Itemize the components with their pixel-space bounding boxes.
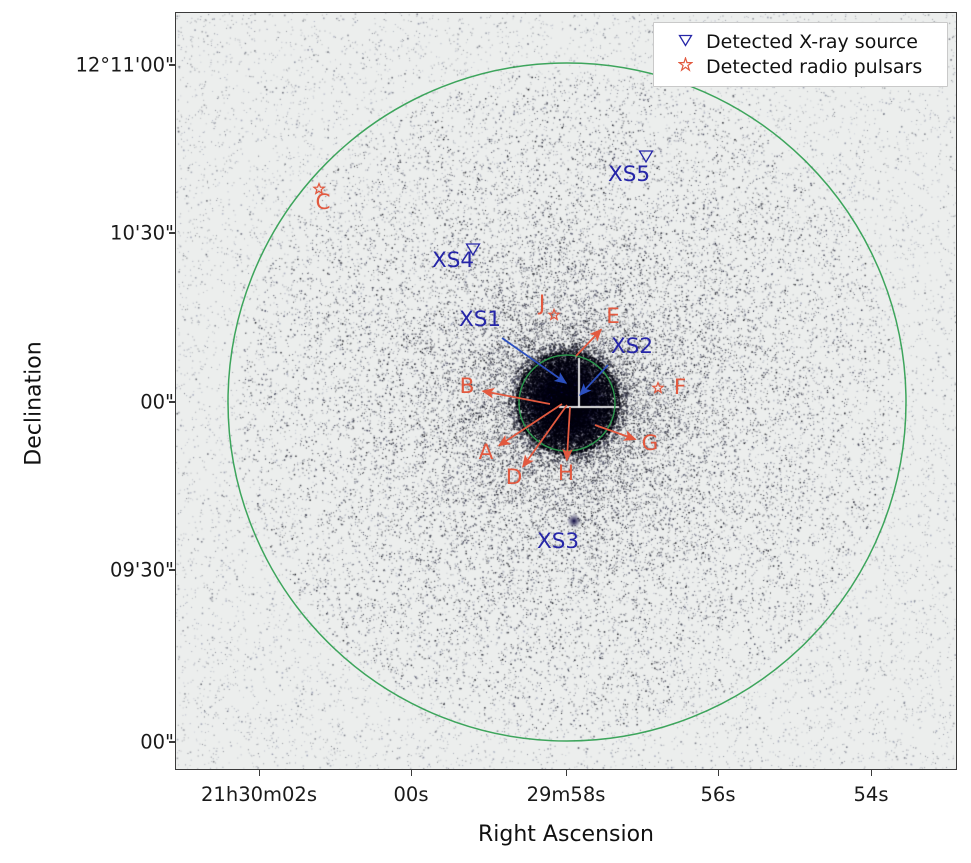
legend-box[interactable]: Detected X-ray source Detected radio pul… [653,22,948,87]
source-label-xs2: XS2 [611,334,653,359]
y-tick-mark [169,64,175,65]
legend-item-pulsar: Detected radio pulsars [664,54,937,79]
outer-green-circle [228,63,906,741]
down-triangle-icon [664,32,706,51]
y-tick-label: 10'30" [110,222,174,245]
pulsar-label-a: A [479,440,494,465]
arrow-pulsar-b [483,391,550,404]
down-triangle-icon-xs5 [640,151,653,162]
pulsar-label-e: E [606,304,620,329]
pulsar-label-f: F [674,375,686,400]
pulsar-label-b: B [460,374,475,399]
pulsar-label-d: D [506,465,523,490]
x-tick-label: 00s [394,783,429,806]
y-axis-title: Declination [22,284,47,524]
x-tick-label: 21h30m02s [201,783,317,806]
x-tick-mark [718,770,719,776]
sky-image-plot[interactable]: XS1XS2XS3XS4XS5ABCDEFGHJ [175,12,957,770]
y-tick-label: 12°11'00" [75,54,174,77]
x-tick-mark [411,770,412,776]
source-label-xs5: XS5 [608,162,650,187]
pulsar-label-g: G [642,431,659,456]
legend-label-pulsar: Detected radio pulsars [706,56,922,78]
arrow-pulsar-h [567,407,570,460]
arrow-xs2 [580,365,608,395]
x-tick-mark [871,770,872,776]
pulsar-label-h: H [558,461,574,486]
y-tick-label: 09'30" [110,559,174,582]
star-icon-pulsar-j [549,310,559,320]
figure-canvas: Declination Right Ascension XS1XS2XS3XS4… [0,0,971,863]
source-label-xs4: XS4 [432,248,474,273]
pulsar-label-j: J [537,291,545,316]
source-label-xs1: XS1 [459,307,501,332]
y-tick-mark [169,232,175,233]
annotation-overlay: XS1XS2XS3XS4XS5ABCDEFGHJ [176,13,957,770]
star-icon [664,57,706,76]
x-axis-title: Right Ascension [175,822,957,847]
star-icon-pulsar-f [653,383,663,393]
pulsar-label-c: C [315,190,330,215]
inner-green-circle [519,355,615,451]
x-tick-label: 56s [701,783,736,806]
legend-item-xray: Detected X-ray source [664,29,937,54]
arrow-xs1 [502,338,566,383]
y-tick-mark [169,401,175,402]
y-tick-mark [169,569,175,570]
x-tick-mark [566,770,567,776]
x-tick-mark [259,770,260,776]
legend-label-xray: Detected X-ray source [706,31,918,53]
x-tick-label: 29m58s [527,783,606,806]
y-tick-mark [169,741,175,742]
source-label-xs3: XS3 [537,529,579,554]
x-tick-label: 54s [854,783,889,806]
arrow-pulsar-e [576,330,601,356]
